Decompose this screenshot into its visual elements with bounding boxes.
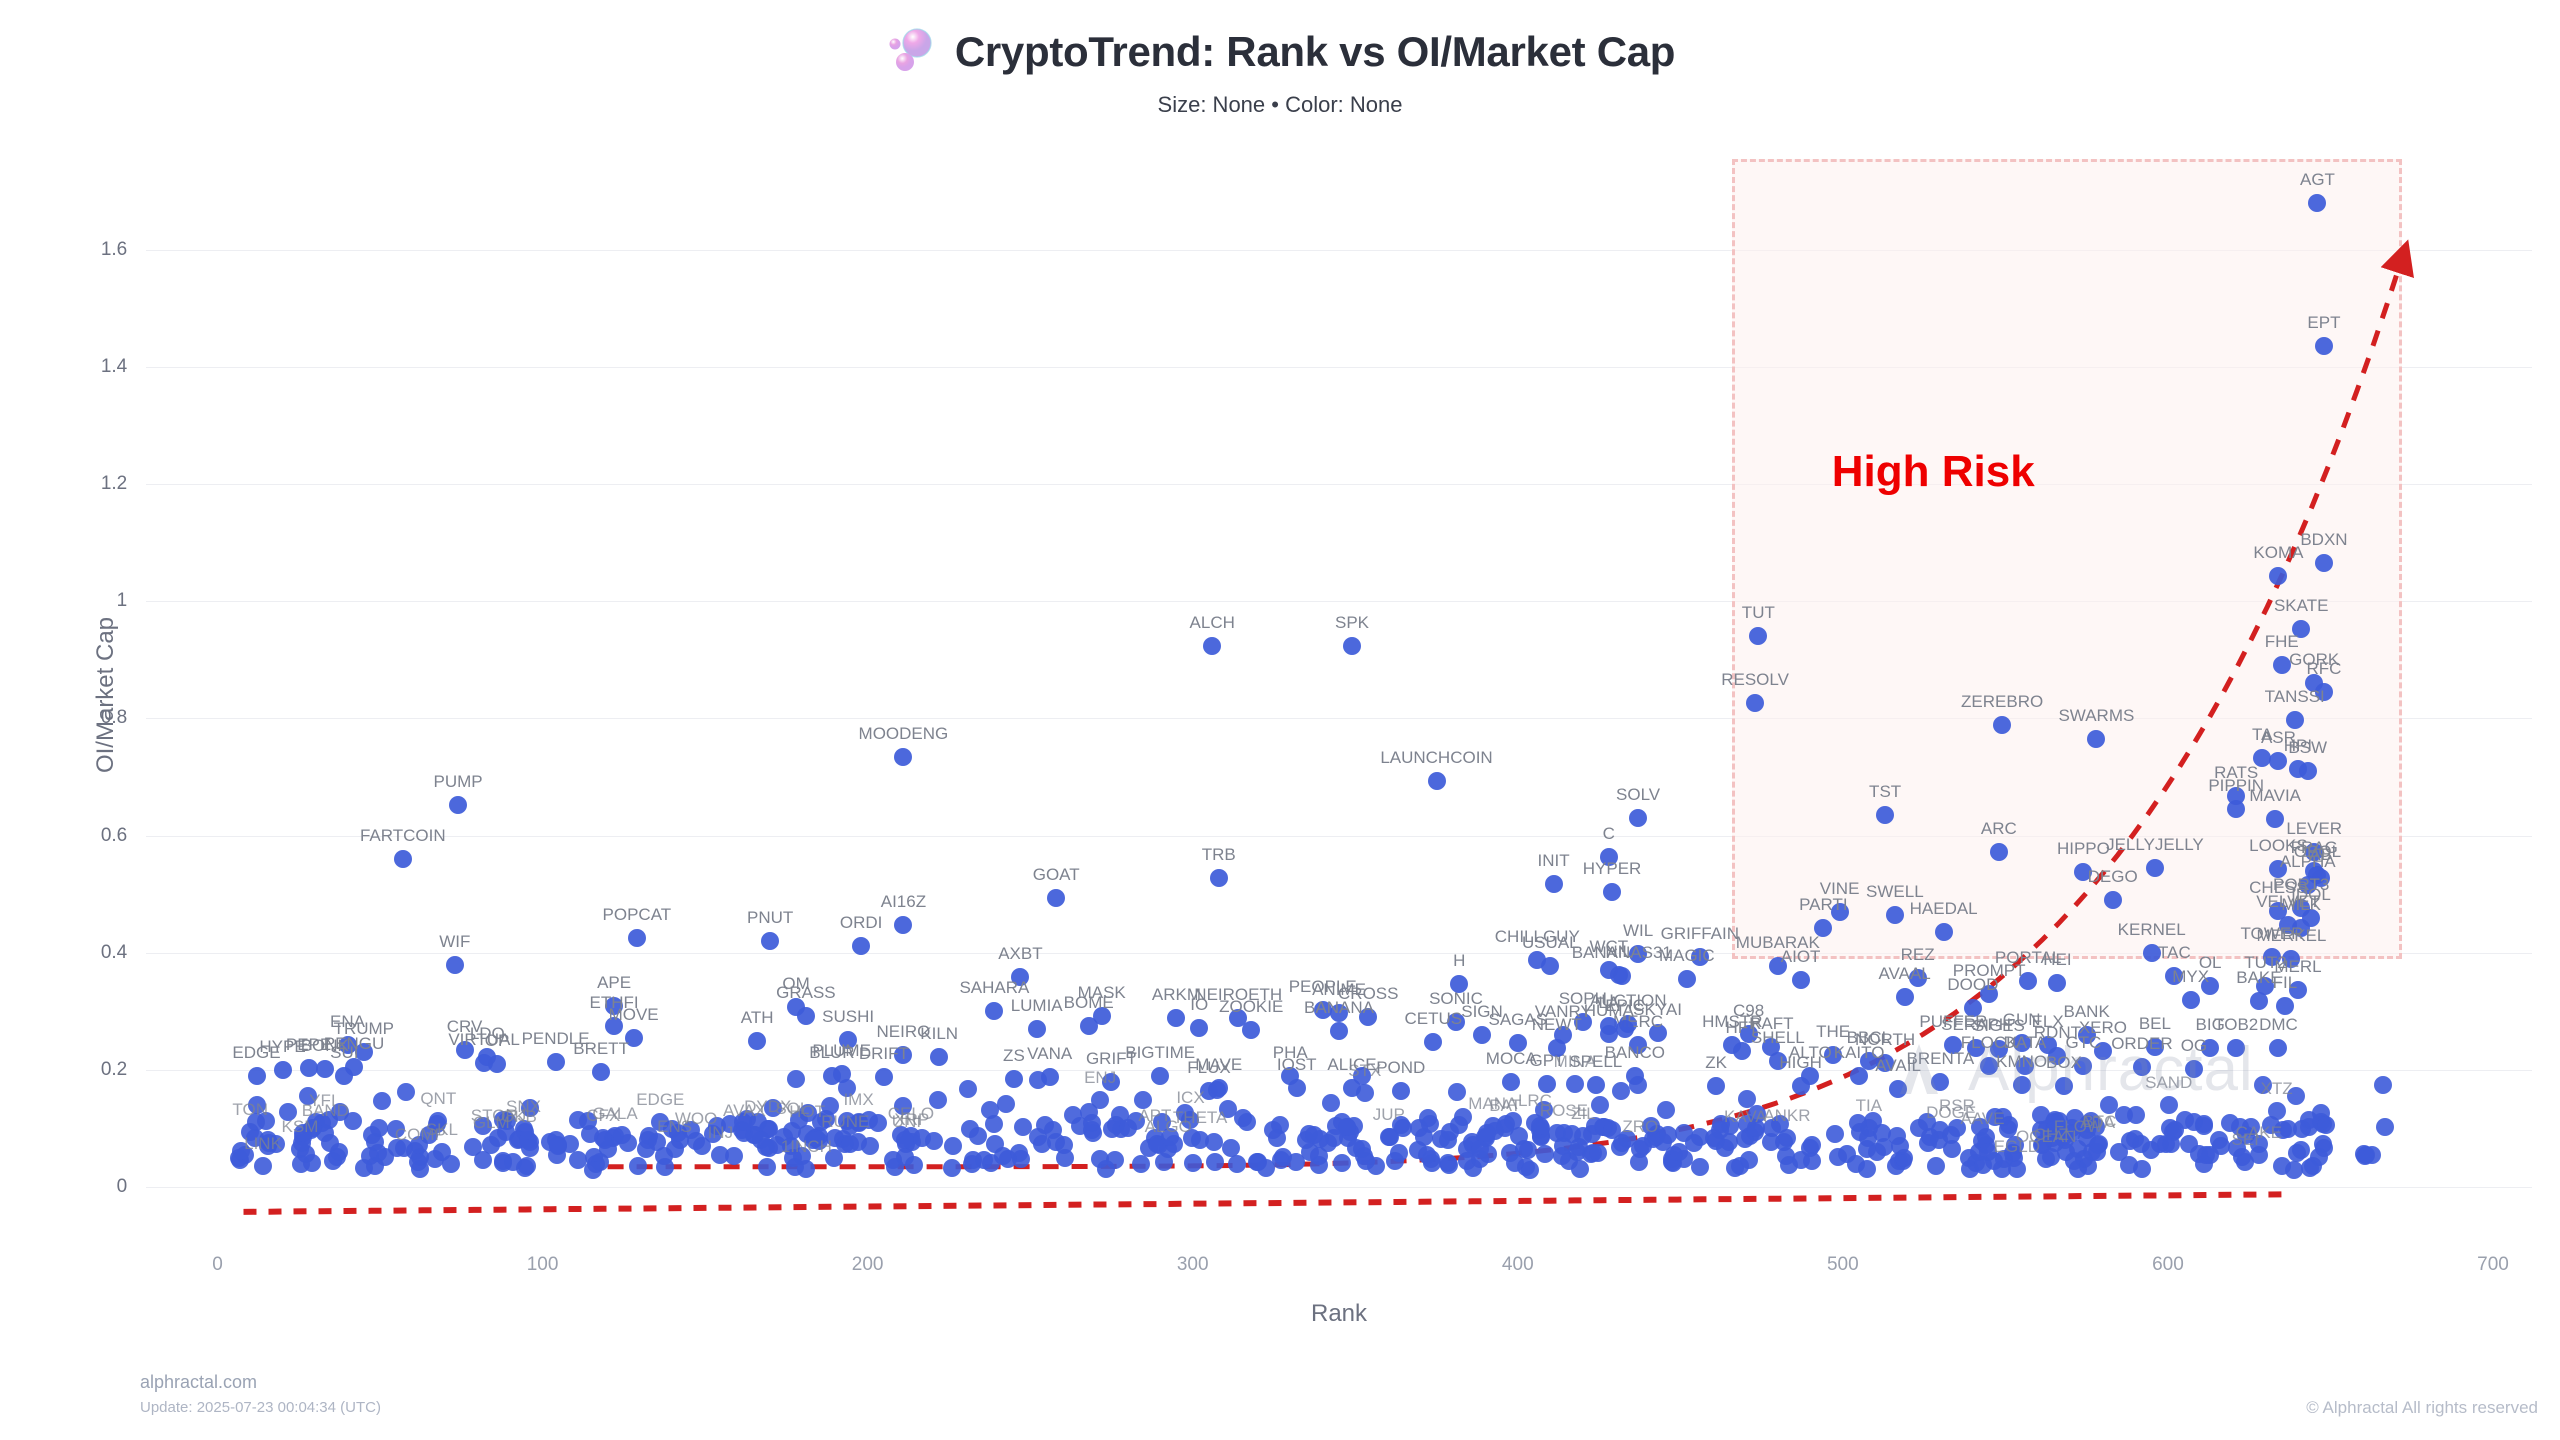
scatter-point[interactable] [1151,1067,1169,1085]
scatter-point[interactable] [1545,875,1563,893]
scatter-point[interactable] [1943,1140,1961,1158]
scatter-point[interactable] [2286,711,2304,729]
scatter-point[interactable] [2120,1156,2138,1174]
scatter-point[interactable] [1612,1082,1630,1100]
scatter-point[interactable] [2276,997,2294,1015]
scatter-point[interactable] [1392,1082,1410,1100]
scatter-point[interactable] [1343,637,1361,655]
scatter-point[interactable] [2185,1060,2203,1078]
scatter-point[interactable] [1731,1157,1749,1175]
scatter-point[interactable] [2013,1034,2031,1052]
scatter-point[interactable] [1047,889,1065,907]
scatter-point[interactable] [1740,1025,1758,1043]
scatter-point[interactable] [1206,1153,1224,1171]
scatter-point[interactable] [345,1058,363,1076]
scatter-point[interactable] [2263,948,2281,966]
scatter-point[interactable] [1418,1146,1436,1164]
scatter-point[interactable] [784,1149,802,1167]
scatter-point[interactable] [1826,1125,1844,1143]
scatter-point[interactable] [2227,1039,2245,1057]
scatter-point[interactable] [2376,1118,2394,1136]
scatter-point[interactable] [2190,1145,2208,1163]
scatter-point[interactable] [1574,1013,1592,1031]
scatter-point[interactable] [1410,1119,1428,1137]
scatter-point[interactable] [2043,1129,2061,1147]
scatter-point[interactable] [1091,1091,1109,1109]
scatter-point[interactable] [428,1115,446,1133]
scatter-point[interactable] [625,1029,643,1047]
scatter-point[interactable] [373,1092,391,1110]
scatter-point[interactable] [2212,1137,2230,1155]
scatter-point[interactable] [2176,1111,2194,1129]
scatter-point[interactable] [1450,975,1468,993]
scatter-point[interactable] [1971,1118,1989,1136]
scatter-point[interactable] [1234,1109,1252,1127]
scatter-point[interactable] [2165,967,2183,985]
scatter-point[interactable] [1248,1153,1266,1171]
scatter-point[interactable] [547,1053,565,1071]
scatter-point[interactable] [1659,1126,1677,1144]
scatter-point[interactable] [1210,869,1228,887]
scatter-point[interactable] [2273,656,2291,674]
scatter-point[interactable] [959,1080,977,1098]
scatter-point[interactable] [1944,1036,1962,1054]
scatter-point[interactable] [1531,1117,1549,1135]
scatter-point[interactable] [982,1154,1000,1172]
scatter-point[interactable] [1181,1111,1199,1129]
scatter-point[interactable] [1264,1121,1282,1139]
scatter-point[interactable] [1691,948,1709,966]
scatter-point[interactable] [1629,809,1647,827]
scatter-point[interactable] [292,1155,310,1173]
scatter-point[interactable] [1591,1096,1609,1114]
scatter-point[interactable] [1190,1019,1208,1037]
scatter-point[interactable] [1028,1020,1046,1038]
scatter-point[interactable] [1080,1017,1098,1035]
scatter-point[interactable] [594,1129,612,1147]
scatter-point[interactable] [316,1060,334,1078]
scatter-point[interactable] [1603,883,1621,901]
scatter-point[interactable] [894,1046,912,1064]
scatter-point[interactable] [267,1135,285,1153]
scatter-point[interactable] [2127,1106,2145,1124]
scatter-point[interactable] [2078,1129,2096,1147]
scatter-point[interactable] [409,1153,427,1171]
scatter-point[interactable] [1447,1013,1465,1031]
scatter-point[interactable] [1993,716,2011,734]
scatter-point[interactable] [613,1126,631,1144]
scatter-point[interactable] [579,1112,597,1130]
scatter-point[interactable] [494,1111,512,1129]
scatter-point[interactable] [387,1120,405,1138]
scatter-point[interactable] [488,1055,506,1073]
scatter-point[interactable] [969,1127,987,1145]
scatter-point[interactable] [1347,1139,1365,1157]
scatter-point[interactable] [930,1048,948,1066]
scatter-point[interactable] [2266,810,2284,828]
scatter-point[interactable] [929,1091,947,1109]
scatter-point[interactable] [1553,1147,1571,1165]
scatter-point[interactable] [1011,968,1029,986]
scatter-point[interactable] [361,1147,379,1165]
scatter-point[interactable] [1831,903,1849,921]
scatter-point[interactable] [825,1149,843,1167]
scatter-point[interactable] [2133,1058,2151,1076]
scatter-point[interactable] [1288,1079,1306,1097]
scatter-point[interactable] [1548,1039,1566,1057]
scatter-point[interactable] [2356,1147,2374,1165]
scatter-point[interactable] [1091,1150,1109,1168]
scatter-point[interactable] [2315,554,2333,572]
scatter-point[interactable] [248,1067,266,1085]
scatter-point[interactable] [1749,627,1767,645]
scatter-point[interactable] [1769,957,1787,975]
scatter-point[interactable] [1691,1128,1709,1146]
scatter-point[interactable] [1642,1117,1660,1135]
scatter-point[interactable] [1502,1073,1520,1091]
scatter-point[interactable] [629,1157,647,1175]
scatter-point[interactable] [1886,906,1904,924]
scatter-point[interactable] [232,1142,250,1160]
scatter-point[interactable] [2253,749,2271,767]
scatter-point[interactable] [446,956,464,974]
scatter-point[interactable] [2305,843,2323,861]
scatter-point[interactable] [852,937,870,955]
scatter-point[interactable] [986,1135,1004,1153]
scatter-point[interactable] [2269,1039,2287,1057]
scatter-point[interactable] [925,1132,943,1150]
scatter-point[interactable] [1629,945,1647,963]
scatter-point[interactable] [708,1117,726,1135]
scatter-point[interactable] [997,1095,1015,1113]
scatter-point[interactable] [1386,1152,1404,1170]
scatter-point[interactable] [1014,1118,1032,1136]
scatter-point[interactable] [1994,1108,2012,1126]
scatter-point[interactable] [1967,1039,1985,1057]
scatter-point[interactable] [1896,988,1914,1006]
scatter-point[interactable] [1333,1154,1351,1172]
scatter-point[interactable] [1610,966,1628,984]
scatter-point[interactable] [943,1159,961,1177]
scatter-point[interactable] [1471,1150,1489,1168]
scatter-point[interactable] [687,1132,705,1150]
scatter-point[interactable] [397,1083,415,1101]
scatter-point[interactable] [2146,1038,2164,1056]
scatter-point[interactable] [1353,1067,1371,1085]
scatter-point[interactable] [504,1153,522,1171]
scatter-point[interactable] [464,1138,482,1156]
scatter-point[interactable] [482,1136,500,1154]
scatter-point[interactable] [1746,694,1764,712]
scatter-point[interactable] [2282,950,2300,968]
scatter-point[interactable] [1935,923,1953,941]
scatter-point[interactable] [1219,1100,1237,1118]
scatter-point[interactable] [764,1099,782,1117]
scatter-point[interactable] [1792,1151,1810,1169]
scatter-point[interactable] [294,1124,312,1142]
scatter-point[interactable] [1850,1067,1868,1085]
scatter-point[interactable] [2016,1057,2034,1075]
scatter-point[interactable] [2288,1144,2306,1162]
scatter-point[interactable] [1733,1042,1751,1060]
scatter-point[interactable] [1995,1150,2013,1168]
scatter-point[interactable] [2146,859,2164,877]
scatter-point[interactable] [1119,1119,1137,1137]
scatter-point[interactable] [1964,999,1982,1017]
scatter-point[interactable] [2055,1077,2073,1095]
scatter-point[interactable] [1448,1083,1466,1101]
scatter-point[interactable] [2287,1087,2305,1105]
scatter-point[interactable] [320,1111,338,1129]
scatter-point[interactable] [1203,637,1221,655]
scatter-point[interactable] [2317,1116,2335,1134]
scatter-point[interactable] [2057,1143,2075,1161]
scatter-point[interactable] [2019,972,2037,990]
scatter-point[interactable] [841,1135,859,1153]
scatter-point[interactable] [2254,1076,2272,1094]
scatter-point[interactable] [1814,919,1832,937]
scatter-point[interactable] [1330,1022,1348,1040]
scatter-point[interactable] [2374,1076,2392,1094]
scatter-point[interactable] [1208,1081,1226,1099]
scatter-point[interactable] [1829,1148,1847,1166]
scatter-point[interactable] [905,1156,923,1174]
scatter-point[interactable] [1478,1124,1496,1142]
scatter-point[interactable] [894,748,912,766]
scatter-point[interactable] [797,1007,815,1025]
scatter-point[interactable] [1678,970,1696,988]
scatter-point[interactable] [1428,772,1446,790]
scatter-point[interactable] [628,929,646,947]
scatter-point[interactable] [2074,863,2092,881]
scatter-point[interactable] [886,1158,904,1176]
scatter-point[interactable] [1990,843,2008,861]
scatter-point[interactable] [1707,1077,1725,1095]
scatter-point[interactable] [328,1148,346,1166]
scatter-point[interactable] [1566,1075,1584,1093]
scatter-point[interactable] [2032,1106,2050,1124]
scatter-point[interactable] [1005,1070,1023,1088]
scatter-point[interactable] [1616,1020,1634,1038]
scatter-point[interactable] [1083,1121,1101,1139]
scatter-point[interactable] [2308,194,2326,212]
scatter-point[interactable] [605,1017,623,1035]
scatter-point[interactable] [2074,1057,2092,1075]
scatter-point[interactable] [734,1113,752,1131]
site-url[interactable]: alphractal.com [140,1372,381,1393]
scatter-point[interactable] [1792,971,1810,989]
scatter-point[interactable] [758,1158,776,1176]
scatter-point[interactable] [474,1117,492,1135]
scatter-point[interactable] [2048,974,2066,992]
scatter-point[interactable] [1909,969,1927,987]
scatter-point[interactable] [1847,1155,1865,1173]
scatter-point[interactable] [1931,1073,1949,1091]
scatter-point[interactable] [761,932,779,950]
scatter-point[interactable] [2201,977,2219,995]
scatter-point[interactable] [1330,1004,1348,1022]
scatter-point[interactable] [521,1099,539,1117]
scatter-point[interactable] [1876,1054,1894,1072]
scatter-point[interactable] [1521,1161,1539,1179]
scatter-point[interactable] [1980,985,1998,1003]
scatter-point[interactable] [1314,1001,1332,1019]
scatter-point[interactable] [1587,1076,1605,1094]
scatter-point[interactable] [839,1031,857,1049]
scatter-point[interactable] [1322,1094,1340,1112]
scatter-point[interactable] [1222,1139,1240,1157]
scatter-point[interactable] [1367,1157,1385,1175]
scatter-point[interactable] [395,1139,413,1157]
scatter-point[interactable] [2121,1132,2139,1150]
scatter-point[interactable] [944,1137,962,1155]
scatter-point[interactable] [2269,860,2287,878]
scatter-point[interactable] [1359,1008,1377,1026]
scatter-point[interactable] [2292,919,2310,937]
scatter-point[interactable] [1424,1033,1442,1051]
scatter-point[interactable] [711,1146,729,1164]
scatter-point[interactable] [1167,1009,1185,1027]
scatter-point[interactable] [299,1087,317,1105]
scatter-point[interactable] [1381,1128,1399,1146]
scatter-point[interactable] [875,1068,893,1086]
scatter-point[interactable] [592,1063,610,1081]
scatter-point[interactable] [2143,944,2161,962]
scatter-point[interactable] [894,1097,912,1115]
scatter-point[interactable] [2310,1148,2328,1166]
scatter-point[interactable] [1504,1112,1522,1130]
scatter-point[interactable] [1155,1153,1173,1171]
scatter-point[interactable] [2289,981,2307,999]
scatter-point[interactable] [2227,800,2245,818]
scatter-point[interactable] [2299,876,2317,894]
scatter-point[interactable] [1310,1147,1328,1165]
scatter-point[interactable] [1824,1046,1842,1064]
scatter-point[interactable] [775,1128,793,1146]
scatter-point[interactable] [1242,1021,1260,1039]
scatter-point[interactable] [1868,1143,1886,1161]
scatter-point[interactable] [410,1136,428,1154]
scatter-point[interactable] [2269,567,2287,585]
scatter-point[interactable] [999,1150,1017,1168]
scatter-point[interactable] [1029,1071,1047,1089]
scatter-point[interactable] [605,997,623,1015]
scatter-point[interactable] [1047,1133,1065,1151]
scatter-point[interactable] [394,850,412,868]
scatter-point[interactable] [1184,1154,1202,1172]
scatter-point[interactable] [841,1117,859,1135]
scatter-point[interactable] [456,1041,474,1059]
scatter-point[interactable] [1918,1113,1936,1131]
scatter-point[interactable] [860,1111,878,1129]
scatter-point[interactable] [1629,1036,1647,1054]
scatter-point[interactable] [1691,1158,1709,1176]
scatter-point[interactable] [838,1079,856,1097]
scatter-point[interactable] [2087,730,2105,748]
scatter-point[interactable] [1629,1076,1647,1094]
scatter-point[interactable] [370,1119,388,1137]
scatter-point[interactable] [2013,1076,2031,1094]
scatter-point[interactable] [1792,1077,1810,1095]
scatter-point[interactable] [648,1133,666,1151]
scatter-point[interactable] [549,1136,567,1154]
scatter-point[interactable] [1132,1155,1150,1173]
scatter-point[interactable] [1541,957,1559,975]
scatter-point[interactable] [1356,1084,1374,1102]
scatter-point[interactable] [804,1131,822,1149]
scatter-point[interactable] [521,1139,539,1157]
scatter-point[interactable] [2299,762,2317,780]
scatter-point[interactable] [1763,1119,1781,1137]
scatter-point[interactable] [2160,1096,2178,1114]
scatter-point[interactable] [2104,891,2122,909]
scatter-point[interactable] [1657,1101,1675,1119]
scatter-point[interactable] [1509,1034,1527,1052]
scatter-point[interactable] [2201,1039,2219,1057]
scatter-point[interactable] [2250,1135,2268,1153]
scatter-point[interactable] [246,1129,264,1147]
scatter-point[interactable] [1102,1073,1120,1091]
scatter-point[interactable] [1536,1145,1554,1163]
scatter-point[interactable] [1134,1091,1152,1109]
scatter-point[interactable] [1711,1121,1729,1139]
scatter-point[interactable] [748,1032,766,1050]
scatter-point[interactable] [896,1131,914,1149]
scatter-point[interactable] [449,796,467,814]
scatter-point[interactable] [1891,1137,1909,1155]
scatter-point[interactable] [1205,1133,1223,1151]
scatter-point[interactable] [2078,1026,2096,1044]
scatter-point[interactable] [1161,1128,1179,1146]
scatter-point[interactable] [1228,1155,1246,1173]
scatter-point[interactable] [1603,1121,1621,1139]
scatter-point[interactable] [1571,1160,1589,1178]
scatter-point[interactable] [1948,1119,1966,1137]
scatter-point[interactable] [1563,1125,1581,1143]
scatter-point[interactable] [2094,1042,2112,1060]
scatter-point[interactable] [2100,1096,2118,1114]
scatter-point[interactable] [1769,1052,1787,1070]
scatter-point[interactable] [1600,1017,1618,1035]
scatter-point[interactable] [894,916,912,934]
scatter-point[interactable] [1889,1080,1907,1098]
scatter-point[interactable] [274,1061,292,1079]
scatter-point[interactable] [787,1070,805,1088]
scatter-point[interactable] [1851,1123,1869,1141]
scatter-point[interactable] [985,1002,1003,1020]
scatter-point[interactable] [2292,620,2310,638]
scatter-point[interactable] [1600,848,1618,866]
scatter-point[interactable] [1538,1075,1556,1093]
scatter-point[interactable] [1584,1144,1602,1162]
scatter-point[interactable] [861,1137,879,1155]
scatter-point[interactable] [1876,806,1894,824]
scatter-point[interactable] [1979,1143,1997,1161]
scatter-point[interactable] [1473,1026,1491,1044]
scatter-point[interactable] [1927,1157,1945,1175]
scatter-point[interactable] [2182,991,2200,1009]
scatter-point[interactable] [964,1151,982,1169]
scatter-point[interactable] [1338,1118,1356,1136]
scatter-point[interactable] [1106,1151,1124,1169]
scatter-point[interactable] [1980,1057,1998,1075]
scatter-point[interactable] [2273,1157,2291,1175]
scatter-point[interactable] [1454,1108,1472,1126]
scatter-point[interactable] [2262,1116,2280,1134]
scatter-point[interactable] [1440,1156,1458,1174]
scatter-point[interactable] [2048,1047,2066,1065]
scatter-point[interactable] [1036,1116,1054,1134]
